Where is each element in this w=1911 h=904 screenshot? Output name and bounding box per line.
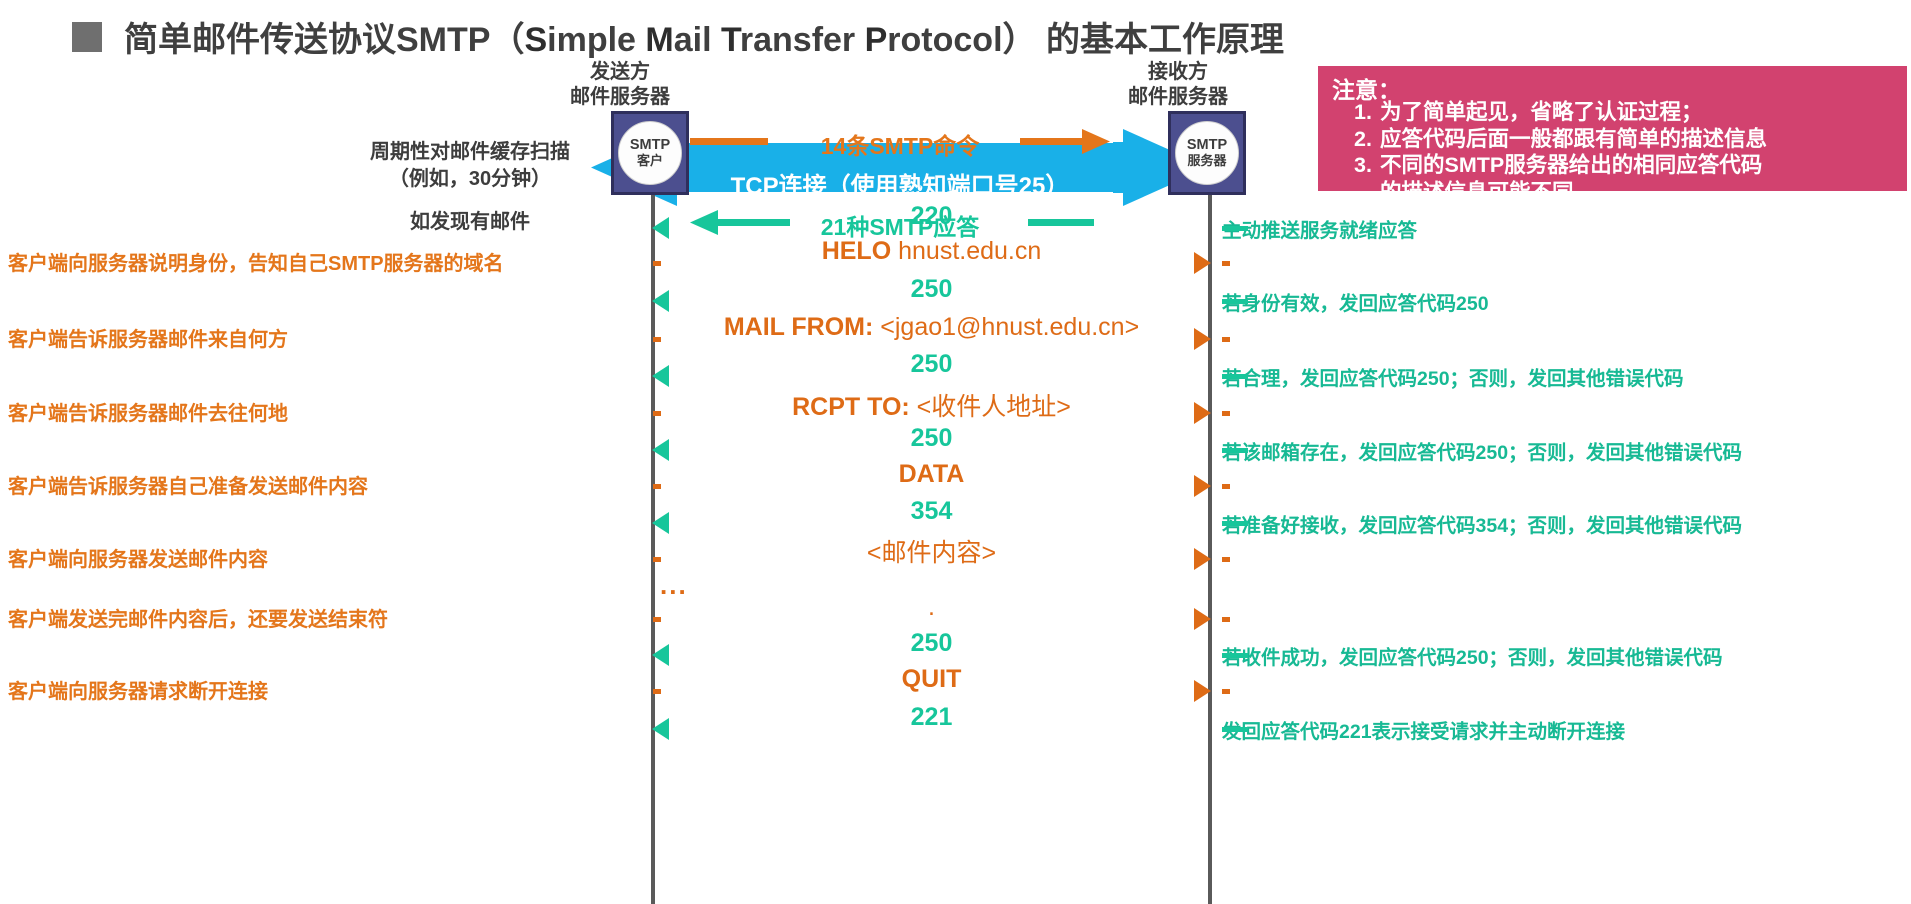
arrow-head-right-icon: [1194, 328, 1211, 350]
arrow-line-right: [1222, 557, 1230, 562]
arrow-label: MAIL FROM: <jgao1@hnust.edu.cn>: [653, 313, 1210, 342]
arrow-label: 250: [653, 629, 1210, 658]
step-description-right: 若收件成功，发回应答代码250；否则，发回其他错误代码: [1222, 641, 1907, 670]
arrow-line-right: [1222, 689, 1230, 694]
step-description-left: 客户端告诉服务器邮件来自何方: [8, 323, 648, 352]
arrow-line-right: [1222, 617, 1230, 622]
arrow-line-right: [1222, 727, 1248, 732]
arrow-line-left: [653, 689, 661, 694]
arrow-label-keyword: 250: [911, 629, 953, 657]
arrow-label: DATA: [653, 460, 1210, 489]
sequence-row: 客户端向服务器发送邮件内容<邮件内容>: [0, 536, 1911, 582]
arrow-line-right: [1222, 374, 1248, 379]
arrow-label-keyword: RCPT TO:: [792, 393, 910, 421]
command-arrow: <邮件内容>: [653, 536, 1210, 582]
arrow-line-right: [1222, 521, 1248, 526]
arrow-line-right: [1222, 411, 1230, 416]
arrow-line-left: [653, 557, 661, 562]
arrow-head-left-icon: [652, 644, 669, 666]
arrow-line-right: [1222, 484, 1230, 489]
arrow-line-right: [1222, 337, 1230, 342]
step-description-right: 若身份有效，发回应答代码250: [1222, 287, 1907, 316]
arrow-head-right-icon: [1194, 608, 1211, 630]
arrow-line-right: [1222, 448, 1248, 453]
arrow-line-left: [653, 261, 661, 266]
arrow-label-argument: hnust.edu.cn: [891, 237, 1041, 265]
arrow-label: 354: [653, 497, 1210, 526]
arrow-line-left: [653, 337, 661, 342]
arrow-label: 250: [653, 424, 1210, 453]
arrow-label-keyword: 221: [911, 703, 953, 731]
arrow-head-right-icon: [1194, 680, 1211, 702]
continuation-ellipsis: ...: [660, 570, 688, 601]
arrow-head-right-icon: [1194, 475, 1211, 497]
arrow-label-argument: <jgao1@hnust.edu.cn>: [873, 313, 1139, 341]
arrow-head-left-icon: [652, 439, 669, 461]
arrow-head-left-icon: [652, 512, 669, 534]
step-description-left: 客户端告诉服务器自己准备发送邮件内容: [8, 470, 648, 499]
arrow-label-keyword: 354: [911, 497, 953, 525]
step-description-right: 若该邮箱存在，发回应答代码250；否则，发回其他错误代码: [1222, 436, 1907, 465]
step-description-right: 发回应答代码221表示接受请求并主动断开连接: [1222, 715, 1907, 744]
sequence-row: 发回应答代码221表示接受请求并主动断开连接221: [0, 706, 1911, 752]
arrow-label: 250: [653, 275, 1210, 304]
arrow-line-left: [653, 484, 661, 489]
step-description-left: 客户端发送完邮件内容后，还要发送结束符: [8, 603, 648, 632]
arrow-line-left: [653, 411, 661, 416]
arrow-label-argument: <收件人地址>: [910, 393, 1071, 421]
arrow-head-left-icon: [652, 217, 669, 239]
arrow-head-right-icon: [1194, 402, 1211, 424]
arrow-label-keyword: 250: [911, 350, 953, 378]
arrow-label-keyword: 220: [911, 202, 953, 230]
step-description-right: 若合理，发回应答代码250；否则，发回其他错误代码: [1222, 362, 1907, 391]
arrow-line-right: [1222, 299, 1248, 304]
arrow-label: HELO hnust.edu.cn: [653, 237, 1210, 266]
arrow-label-keyword: 250: [911, 424, 953, 452]
step-description-left: 客户端向服务器请求断开连接: [8, 675, 648, 704]
arrow-label-keyword: HELO: [822, 237, 891, 265]
arrow-label-argument: .: [928, 593, 935, 621]
arrow-label: <邮件内容>: [653, 533, 1210, 569]
arrow-head-left-icon: [652, 718, 669, 740]
step-description-left: 客户端向服务器说明身份，告知自己SMTP服务器的域名: [8, 247, 648, 276]
arrow-label: .: [653, 593, 1210, 622]
step-description-right: 若准备好接收，发回应答代码354；否则，发回其他错误代码: [1222, 509, 1907, 538]
arrow-label: QUIT: [653, 665, 1210, 694]
arrow-line-right: [1222, 226, 1248, 231]
arrow-label-argument: <邮件内容>: [867, 539, 996, 567]
arrow-line-left: [653, 617, 661, 622]
arrow-head-right-icon: [1194, 252, 1211, 274]
arrow-label-keyword: MAIL FROM:: [724, 313, 874, 341]
reply-arrow: 221: [653, 706, 1210, 752]
arrow-label-keyword: DATA: [899, 460, 965, 488]
arrow-label: RCPT TO: <收件人地址>: [653, 387, 1210, 423]
arrow-head-right-icon: [1194, 548, 1211, 570]
arrow-label-keyword: 250: [911, 275, 953, 303]
step-description-left: 客户端告诉服务器邮件去往何地: [8, 397, 648, 426]
arrow-label-keyword: QUIT: [902, 665, 962, 693]
arrow-label: 250: [653, 350, 1210, 379]
step-description-left: 客户端向服务器发送邮件内容: [8, 543, 648, 572]
arrow-label: 220: [653, 202, 1210, 231]
sequence-diagram: 主动推送服务就绪应答220客户端向服务器说明身份，告知自己SMTP服务器的域名H…: [0, 0, 1911, 904]
arrow-label: 221: [653, 703, 1210, 732]
arrow-head-left-icon: [652, 365, 669, 387]
arrow-head-left-icon: [652, 290, 669, 312]
arrow-line-right: [1222, 261, 1230, 266]
step-description-right: 主动推送服务就绪应答: [1222, 214, 1907, 243]
arrow-line-right: [1222, 653, 1248, 658]
